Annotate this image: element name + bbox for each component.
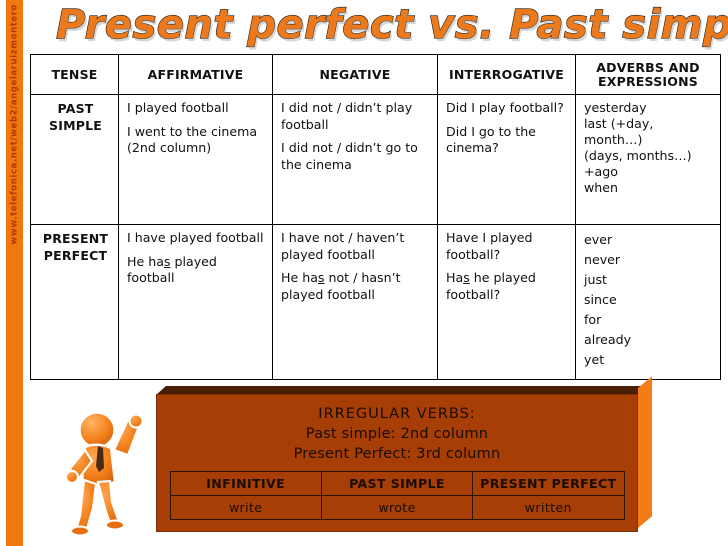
- heading-line-1: IRREGULAR VERBS:: [169, 404, 625, 424]
- verb-column-header-infinitive: INFINITIVE: [170, 472, 321, 496]
- example-sentence: Did I play football?: [446, 100, 569, 117]
- row-header-present-perfect: PRESENT PERFECT: [31, 225, 119, 380]
- verb-cell-present-perfect: written: [473, 496, 624, 520]
- cell-past-interrogative: Did I play football? Did I go to the cin…: [438, 95, 576, 225]
- adverb-item: never: [584, 250, 714, 270]
- adverb-item: ever: [584, 230, 714, 250]
- column-header-interrogative: INTERROGATIVE: [438, 55, 576, 95]
- row-header-past-simple: PAST SIMPLE: [31, 95, 119, 225]
- verb-cell-past-simple: wrote: [321, 496, 472, 520]
- column-header-tense: TENSE: [31, 55, 119, 95]
- adverb-item: since: [584, 290, 714, 310]
- verb-cell-infinitive: write: [170, 496, 321, 520]
- row-header-present-perfect-line1: PRESENT: [43, 231, 108, 246]
- page-title: Present perfect vs. Past simple: [56, 0, 696, 54]
- cell-past-negative: I did not / didn’t play football I did n…: [273, 95, 438, 225]
- example-sentence: He has not / hasn’t played football: [281, 270, 431, 303]
- grammar-comparison-table: TENSE AFFIRMATIVE NEGATIVE INTERROGATIVE…: [30, 54, 721, 380]
- verb-table-header-row: INFINITIVE PAST SIMPLE PRESENT PERFECT: [170, 472, 624, 496]
- row-header-present-perfect-line2: PERFECT: [44, 248, 108, 263]
- irregular-verbs-table: INFINITIVE PAST SIMPLE PRESENT PERFECT w…: [170, 471, 625, 520]
- example-sentence: I have played football: [127, 230, 266, 247]
- cell-past-affirmative: I played football I went to the cinema (…: [119, 95, 273, 225]
- verb-column-header-past-simple: PAST SIMPLE: [321, 472, 472, 496]
- verb-table-row: write wrote written: [170, 496, 624, 520]
- adverb-item: +ago: [584, 164, 714, 180]
- example-sentence: Has he played football?: [446, 270, 569, 303]
- url-watermark-strip: www.telefonica.net/web2/angelaruizmonter…: [6, 0, 23, 546]
- example-sentence: I played football: [127, 100, 266, 117]
- row-header-past-simple-line1: PAST: [57, 101, 93, 116]
- cell-pp-adverbs: ever never just since for already yet: [576, 225, 721, 380]
- example-sentence: I went to the cinema (2nd column): [127, 124, 266, 157]
- column-header-adverbs-line1: ADVERBS AND: [596, 60, 699, 75]
- column-header-affirmative: AFFIRMATIVE: [119, 55, 273, 95]
- example-sentence: He has played football: [127, 254, 266, 287]
- cell-pp-affirmative: I have played football He has played foo…: [119, 225, 273, 380]
- url-watermark-text: www.telefonica.net/web2/angelaruizmonter…: [6, 4, 23, 245]
- adverb-item: just: [584, 270, 714, 290]
- column-header-adverbs-line2: EXPRESSIONS: [598, 74, 698, 89]
- slide-page: www.telefonica.net/web2/angelaruizmonter…: [0, 0, 728, 546]
- irregular-verbs-box: IRREGULAR VERBS: Past simple: 2nd column…: [156, 386, 652, 534]
- example-sentence: Did I go to the cinema?: [446, 124, 569, 157]
- example-sentence: Have I played football?: [446, 230, 569, 263]
- example-sentence: I did not / didn’t play football: [281, 100, 431, 133]
- orange-figure-icon: [52, 398, 162, 538]
- table-row-present-perfect: PRESENT PERFECT I have played football H…: [31, 225, 721, 380]
- adverb-item: yesterday: [584, 100, 714, 116]
- adverb-item: last (+day, month…): [584, 116, 714, 148]
- table-header-row: TENSE AFFIRMATIVE NEGATIVE INTERROGATIVE…: [31, 55, 721, 95]
- cell-pp-interrogative: Have I played football? Has he played fo…: [438, 225, 576, 380]
- table-row-past-simple: PAST SIMPLE I played football I went to …: [31, 95, 721, 225]
- irregular-verbs-heading: IRREGULAR VERBS: Past simple: 2nd column…: [169, 404, 625, 464]
- row-header-past-simple-line2: SIMPLE: [49, 118, 102, 133]
- cell-past-adverbs: yesterday last (+day, month…) (days, mon…: [576, 95, 721, 225]
- adverb-item: already: [584, 330, 714, 350]
- box-front-face: IRREGULAR VERBS: Past simple: 2nd column…: [156, 394, 638, 532]
- adverb-item: yet: [584, 350, 714, 370]
- example-sentence: I have not / haven’t played football: [281, 230, 431, 263]
- column-header-negative: NEGATIVE: [273, 55, 438, 95]
- verb-column-header-present-perfect: PRESENT PERFECT: [473, 472, 624, 496]
- cell-pp-negative: I have not / haven’t played football He …: [273, 225, 438, 380]
- column-header-adverbs: ADVERBS AND EXPRESSIONS: [576, 55, 721, 95]
- heading-line-3: Present Perfect: 3rd column: [169, 444, 625, 464]
- adverb-item: when: [584, 180, 714, 196]
- adverb-item: (days, months…): [584, 148, 714, 164]
- adverb-item: for: [584, 310, 714, 330]
- heading-line-2: Past simple: 2nd column: [169, 424, 625, 444]
- box-side-bevel: [638, 376, 652, 528]
- example-sentence: I did not / didn’t go to the cinema: [281, 140, 431, 173]
